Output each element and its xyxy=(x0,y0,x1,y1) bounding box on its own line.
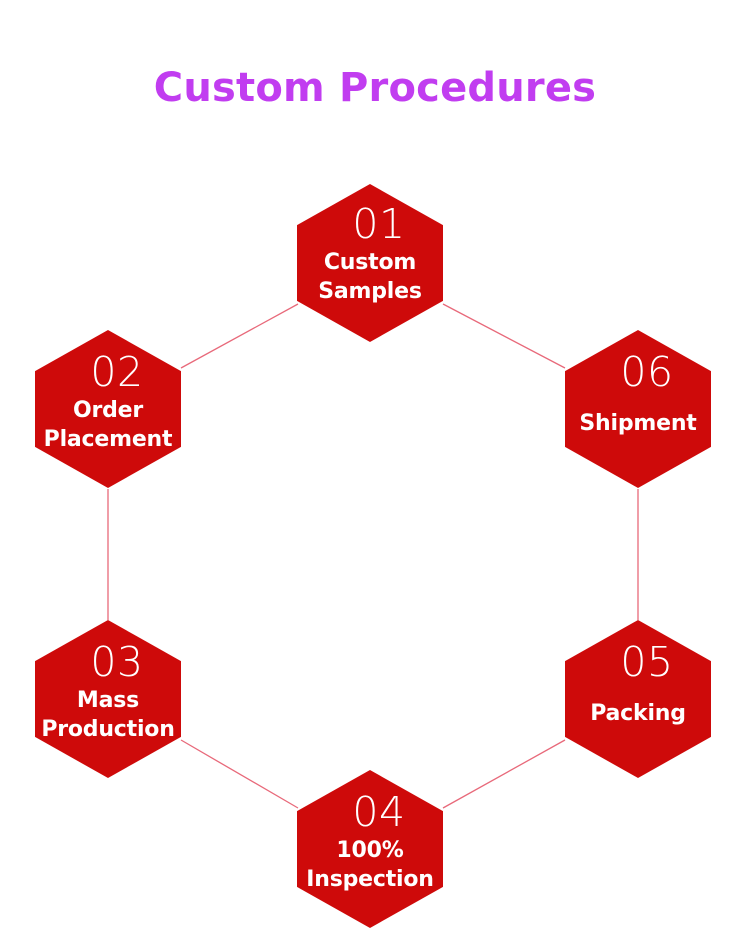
hex-label: Custom Samples xyxy=(318,248,422,306)
hex-node-04[interactable]: 04 100% Inspection xyxy=(297,770,443,928)
hex-number: 01 xyxy=(352,204,405,245)
hex-number: 02 xyxy=(90,352,143,393)
hex-node-02[interactable]: 02 Order Placement xyxy=(35,330,181,488)
hex-content: 04 100% Inspection xyxy=(257,770,483,928)
hex-content: 05 Packing xyxy=(525,620,750,778)
hex-node-03[interactable]: 03 Mass Production xyxy=(35,620,181,778)
hex-node-05[interactable]: 05 Packing xyxy=(565,620,711,778)
hex-label: Mass Production xyxy=(41,686,174,744)
hex-content: 06 Shipment xyxy=(525,330,750,488)
hex-content: 01 Custom Samples xyxy=(257,184,483,342)
hex-label: 100% Inspection xyxy=(306,836,434,894)
hex-node-01[interactable]: 01 Custom Samples xyxy=(297,184,443,342)
hex-node-06[interactable]: 06 Shipment xyxy=(565,330,711,488)
hex-content: 02 Order Placement xyxy=(0,330,221,488)
diagram-canvas: Custom Procedures 01 Custom Samples 02 O… xyxy=(0,0,750,942)
hex-label: Order Placement xyxy=(44,396,173,454)
hex-content: 03 Mass Production xyxy=(0,620,221,778)
hex-number: 05 xyxy=(620,642,673,683)
hex-number: 03 xyxy=(90,642,143,683)
title-area: Custom Procedures xyxy=(0,66,750,110)
hex-number: 06 xyxy=(620,352,673,393)
hex-number: 04 xyxy=(352,792,405,833)
hex-label: Packing xyxy=(590,699,686,728)
page-title: Custom Procedures xyxy=(154,66,596,110)
hex-label: Shipment xyxy=(579,409,696,438)
